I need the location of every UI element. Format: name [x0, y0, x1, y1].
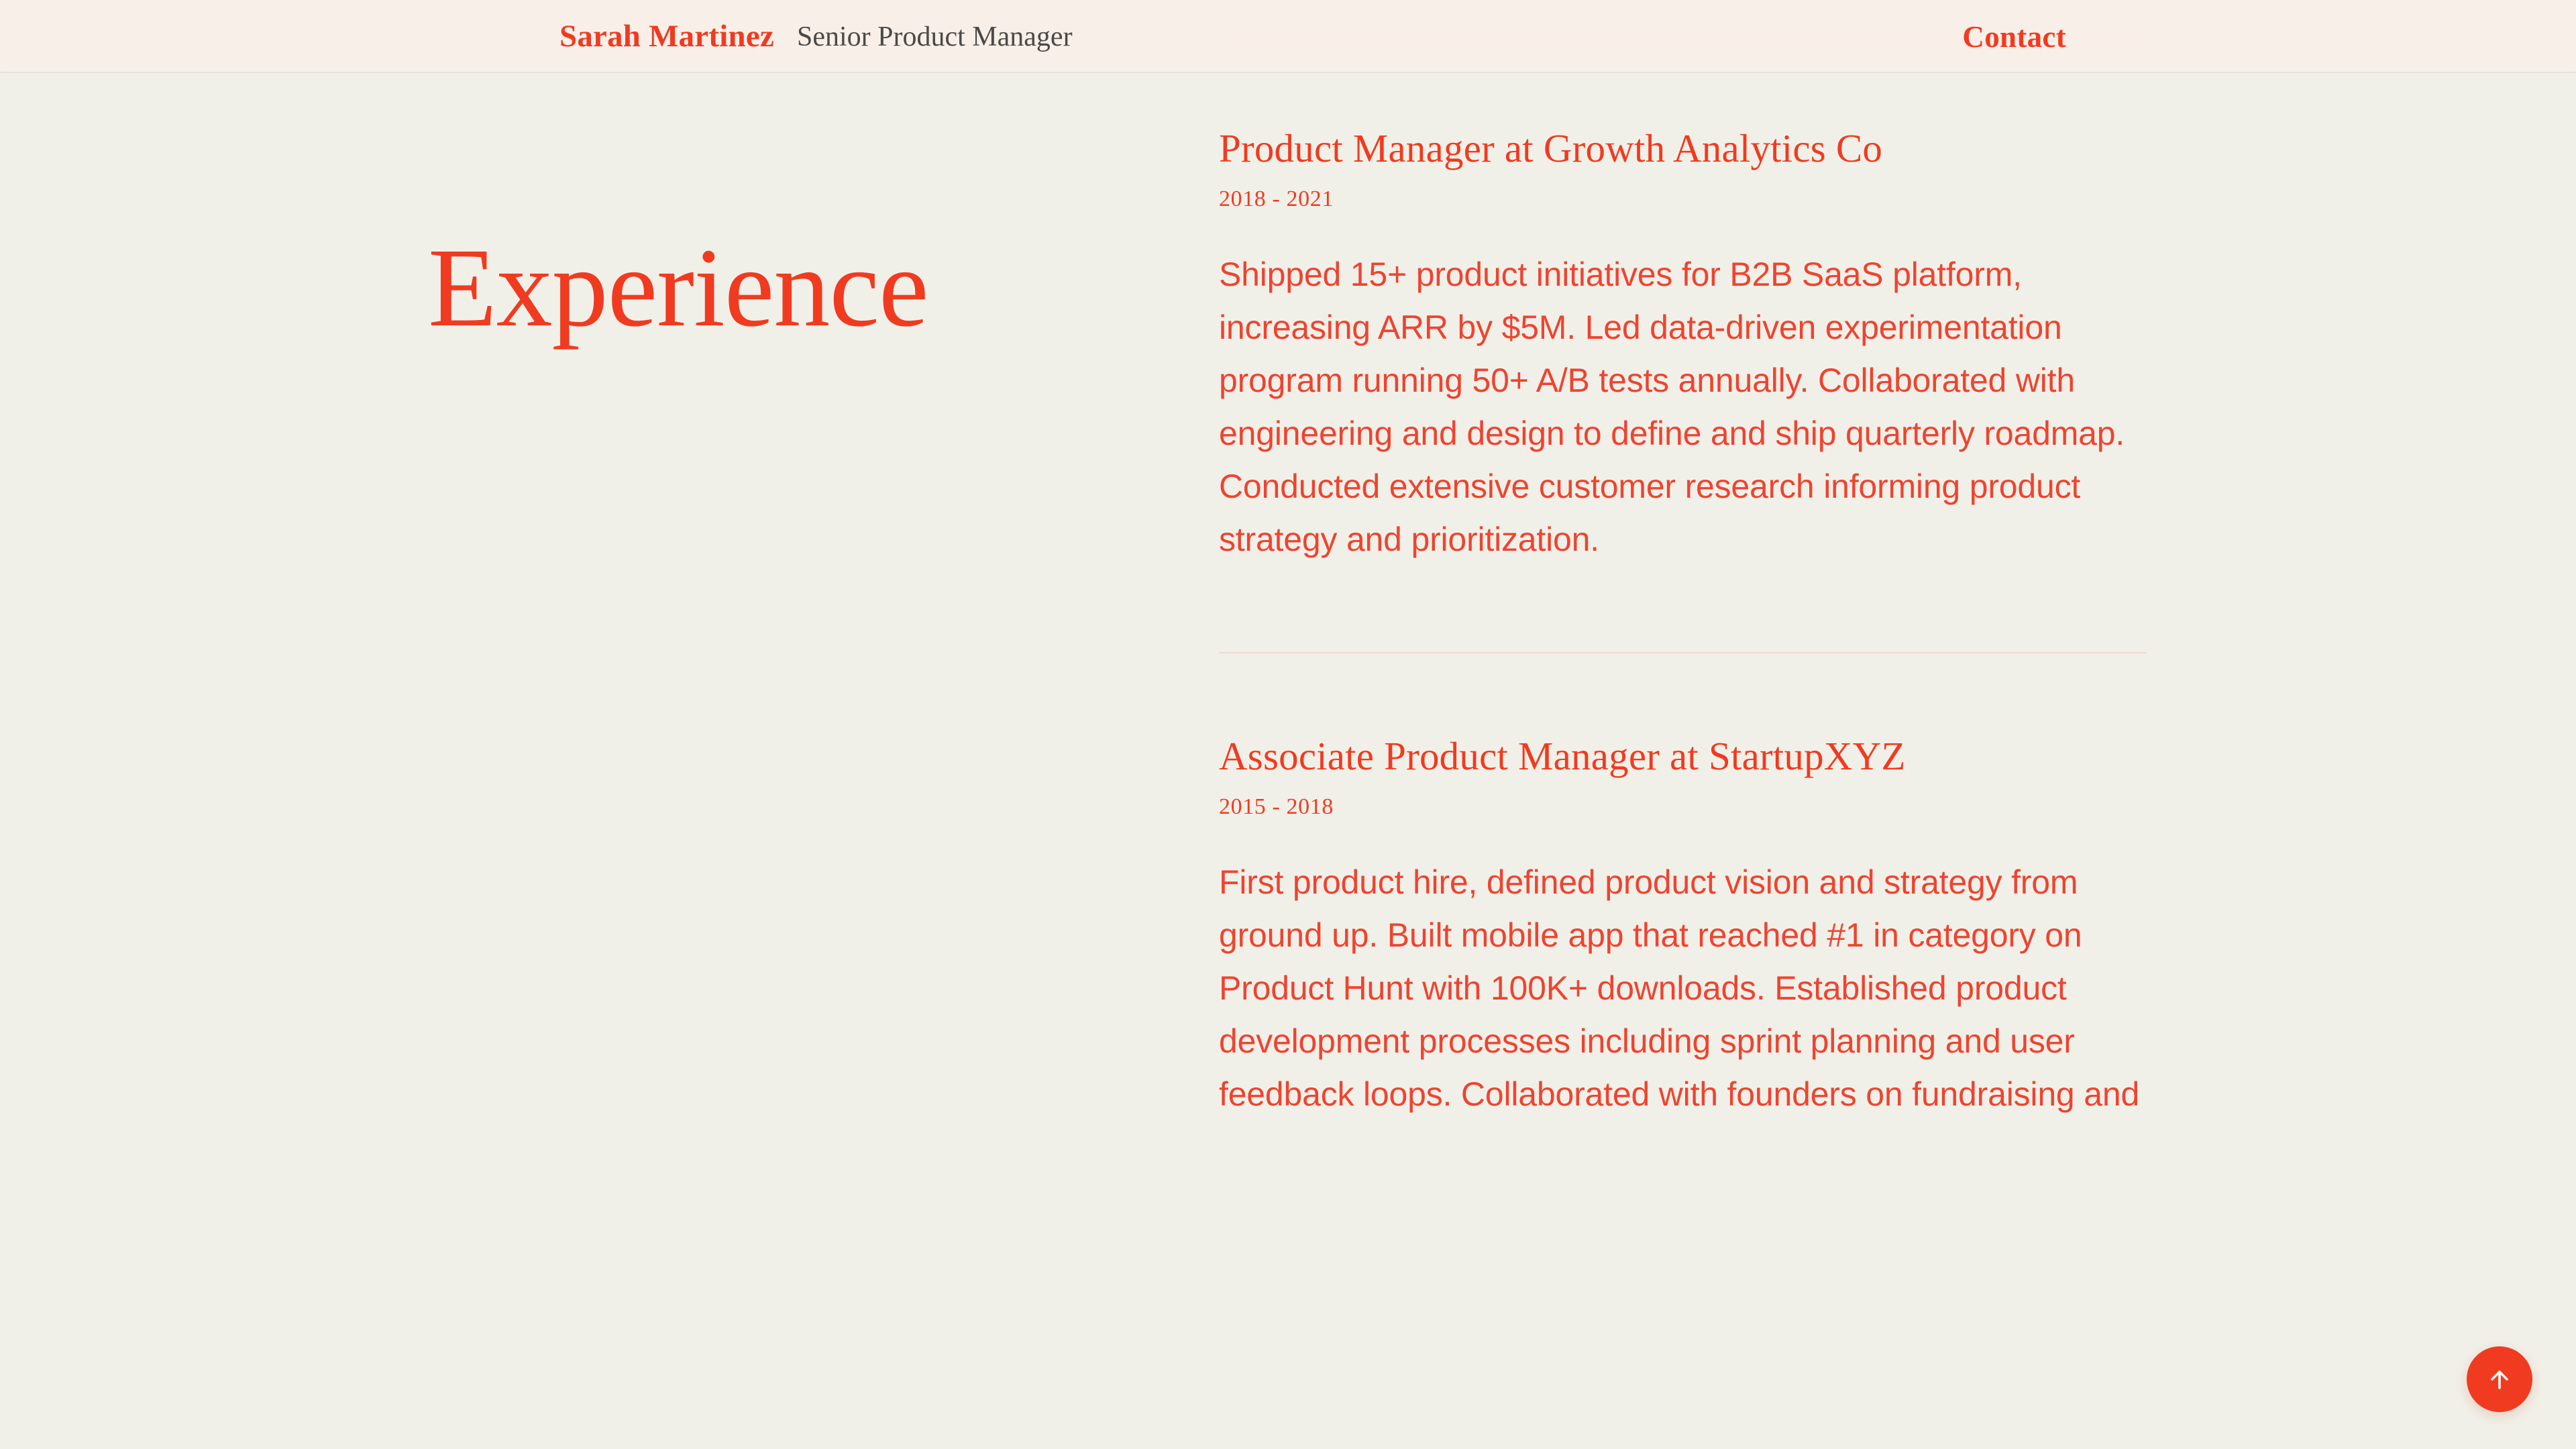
arrow-up-icon [2485, 1364, 2514, 1394]
experience-divider [1219, 652, 2146, 653]
job-dates: 2015 - 2018 [1219, 796, 2146, 818]
experience-list: engineers, designers, and analysts. Defi… [1219, 0, 2146, 1121]
experience-item-2: Associate Product Manager at StartupXYZ … [1219, 734, 2146, 1121]
page-root: engineers, designers, and analysts. Defi… [0, 0, 2576, 1449]
page-title: Experience [428, 231, 928, 344]
job-dates: 2018 - 2021 [1219, 188, 2146, 211]
nav-link-contact[interactable]: Contact [1962, 0, 2066, 73]
experience-item-1: Product Manager at Growth Analytics Co 2… [1219, 126, 2146, 566]
job-title: Product Manager at Growth Analytics Co [1219, 126, 2146, 170]
brand-name[interactable]: Sarah Martinez [559, 21, 774, 52]
site-header: Sarah Martinez Senior Product Manager Co… [0, 0, 2576, 73]
job-description: First product hire, defined product visi… [1219, 856, 2146, 1121]
brand-role: Senior Product Manager [797, 23, 1073, 51]
brand-group[interactable]: Sarah Martinez Senior Product Manager [559, 0, 1073, 73]
job-description: Shipped 15+ product initiatives for B2B … [1219, 248, 2146, 566]
scroll-to-top-button[interactable] [2467, 1346, 2532, 1412]
job-title: Associate Product Manager at StartupXYZ [1219, 734, 2146, 778]
